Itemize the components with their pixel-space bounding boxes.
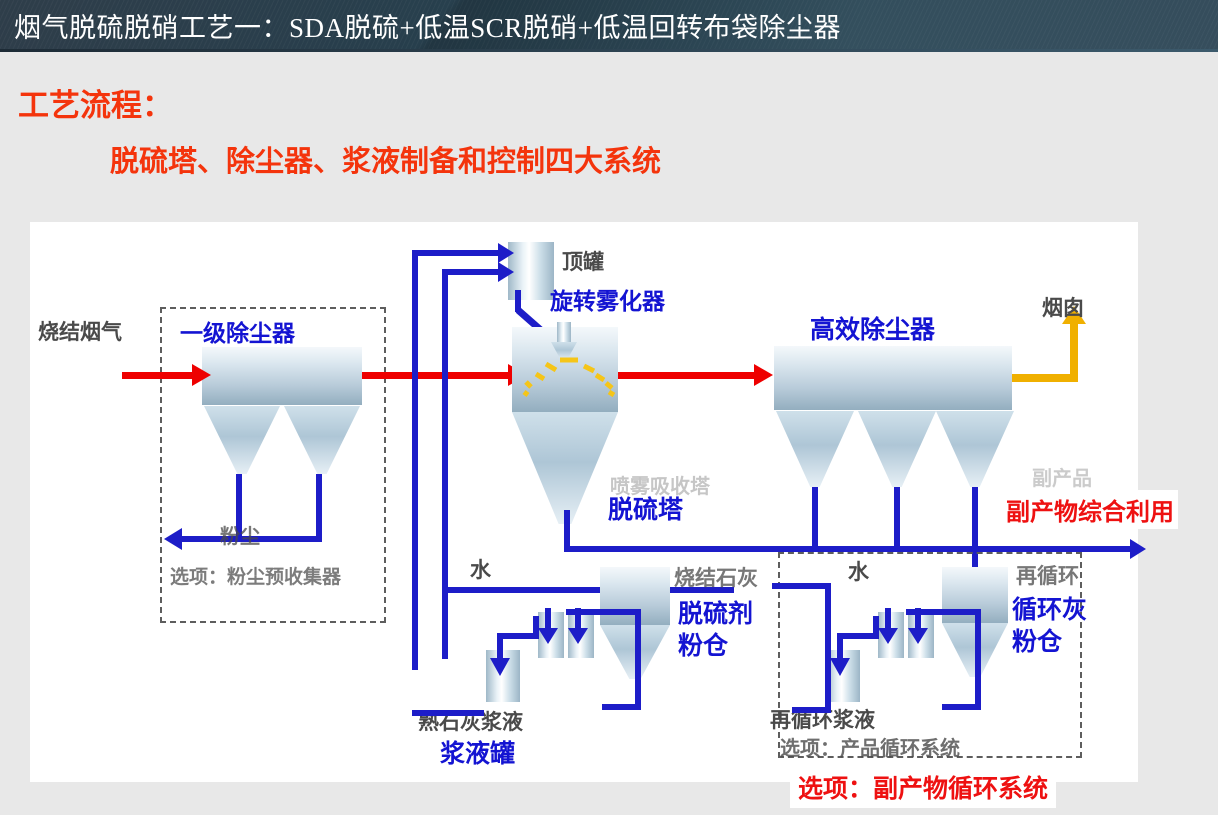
byproduct-faint-label: 副产品: [1032, 462, 1092, 491]
byproduct-utilization-label: 副产物综合利用: [1002, 490, 1178, 529]
inlet-gas-flow-line: [122, 372, 194, 379]
dust-leg-2: [316, 474, 322, 542]
circulating-ash-silo-label-2: 粉仓: [1012, 622, 1062, 658]
option-dust-precollector-label: 选项：粉尘预收集器: [170, 562, 341, 589]
ash-silo-discharge-route: [900, 607, 1010, 722]
feed-line-inner: [442, 269, 500, 275]
feed-riser-inner: [442, 269, 448, 659]
desulfurizer-silo-label-2: 粉仓: [678, 626, 728, 662]
slurry-tank-label: 浆液罐: [440, 734, 515, 770]
recirculation-label: 再循环: [1016, 560, 1079, 590]
desulfurization-tower-label: 脱硫塔: [608, 490, 683, 526]
slurry-return-line: [412, 710, 484, 716]
he-hopper-3: [936, 411, 1014, 487]
high-efficiency-collector-label: 高效除尘器: [810, 310, 935, 346]
water-left-label: 水: [470, 554, 491, 584]
process-flow-heading: 工艺流程：: [18, 80, 173, 125]
ash-collection-arrowhead: [1130, 539, 1146, 559]
he-hopper-1: [776, 411, 854, 487]
clean-gas-line: [1012, 374, 1078, 382]
top-tank-label: 顶罐: [562, 246, 604, 276]
tower-to-collector-line: [618, 372, 758, 379]
desulfurizer-silo-label-1: 脱硫剂: [678, 594, 753, 630]
circulating-ash-silo-label-1: 循环灰: [1012, 590, 1087, 626]
recycle-return-route: [772, 580, 842, 720]
option-product-recycle-label: 选项：产品循环系统: [780, 732, 960, 761]
he-ash-leg-2: [894, 487, 900, 550]
water-right-label: 水: [848, 556, 869, 586]
sintered-lime-label: 烧结石灰: [674, 562, 758, 592]
feed-riser-outer: [412, 250, 418, 670]
spray-pattern-icon: [516, 354, 620, 400]
inlet-gas-label: 烧结烟气: [38, 316, 122, 346]
dust-outlet-arrowhead: [164, 528, 182, 550]
tower-ash-drop: [564, 510, 570, 550]
process-diagram: 烧结烟气 一级除尘器 粉尘 选项：粉尘预收集器 顶罐 旋转雾化器: [30, 222, 1138, 782]
page-title: 烟气脱硫脱硝工艺一：SDA脱硫+低温SCR脱硝+低温回转布袋除尘器: [14, 6, 841, 45]
feed-line-outer: [412, 250, 500, 256]
gas-to-tower-line: [362, 372, 512, 379]
he-ash-leg-3: [972, 487, 978, 550]
inlet-gas-arrowhead: [192, 364, 211, 386]
primary-dust-collector-body: [202, 347, 362, 405]
chimney-riser: [1070, 322, 1078, 378]
desulfurization-tower-cone: [512, 412, 618, 524]
silo-discharge-route: [560, 607, 670, 722]
high-efficiency-collector-body: [774, 346, 1012, 410]
feed-arrow-outer: [498, 243, 514, 263]
atomizer-nozzle-stem: [557, 322, 571, 344]
option-byproduct-recycle-label: 选项：副产物循环系统: [790, 766, 1056, 808]
he-ash-leg-1: [812, 487, 818, 550]
dust-label: 粉尘: [220, 520, 260, 549]
chimney-label: 烟囱: [1042, 292, 1084, 322]
feed-arrow-inner: [498, 262, 514, 282]
title-bar: 烟气脱硫脱硝工艺一：SDA脱硫+低温SCR脱硝+低温回转布袋除尘器: [0, 0, 1218, 52]
he-hopper-2: [858, 411, 936, 487]
primary-dust-collector-label: 一级除尘器: [180, 314, 295, 348]
tower-to-collector-arrowhead: [754, 364, 773, 386]
process-subtitle: 脱硫塔、除尘器、浆液制备和控制四大系统: [110, 138, 661, 180]
